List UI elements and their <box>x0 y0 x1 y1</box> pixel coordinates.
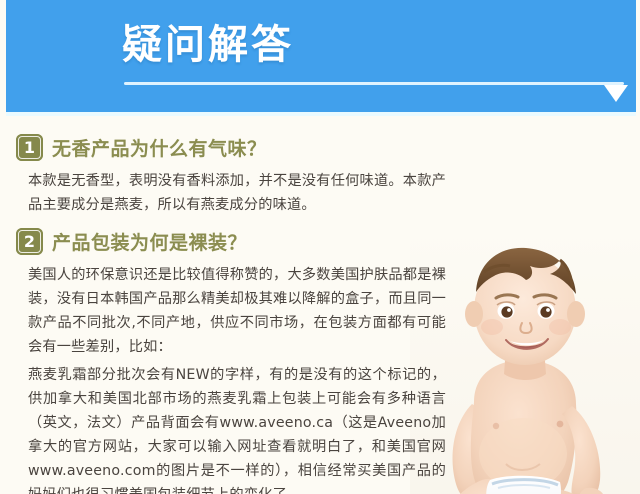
faq-answer-1: 本款是无香型，表明没有香料添加，并不是没有任何味道。本款产品主要成分是燕麦，所以… <box>16 169 446 217</box>
faq-answer-2-paragraph-2: 燕麦乳霜部分批次会有NEW的字样，有的是没有的这个标记的，供加拿大和美国北部市场… <box>28 363 446 494</box>
page-title: 疑问解答 <box>122 22 294 68</box>
faq-item-1: 1 无香产品为什么有气味？ 本款是无香型，表明没有香料添加，并不是没有任何味道。… <box>16 132 446 221</box>
faq-number-badge-1: 1 <box>16 134 43 161</box>
faq-number-badge-2: 2 <box>16 228 43 255</box>
faq-number-2: 2 <box>18 230 41 253</box>
header-banner: 疑问解答 <box>6 0 636 112</box>
faq-answer-2: 美国人的环保意识还是比较值得称赞的，大多数美国护肤品都是裸装，没有日本韩国产品那… <box>16 263 446 494</box>
chevron-down-icon <box>604 85 628 102</box>
faq-item-1-header: 1 无香产品为什么有气味？ <box>16 132 446 162</box>
faq-content: 1 无香产品为什么有气味？ 本款是无香型，表明没有香料添加，并不是没有任何味道。… <box>0 116 640 494</box>
faq-item-2: 2 产品包装为何是裸装？ 美国人的环保意识还是比较值得称赞的，大多数美国护肤品都… <box>16 226 446 494</box>
faq-answer-1-paragraph-1: 本款是无香型，表明没有香料添加，并不是没有任何味道。本款产品主要成分是燕麦，所以… <box>28 169 446 217</box>
faq-answer-2-paragraph-1: 美国人的环保意识还是比较值得称赞的，大多数美国护肤品都是裸装，没有日本韩国产品那… <box>28 263 446 359</box>
faq-item-2-header: 2 产品包装为何是裸装？ <box>16 226 446 256</box>
faq-number-1: 1 <box>18 136 41 159</box>
title-underline <box>124 82 624 85</box>
faq-question-2: 产品包装为何是裸装？ <box>52 228 247 255</box>
faq-question-1: 无香产品为什么有气味？ <box>52 134 267 161</box>
promo-page: 疑问解答 <box>0 0 640 494</box>
